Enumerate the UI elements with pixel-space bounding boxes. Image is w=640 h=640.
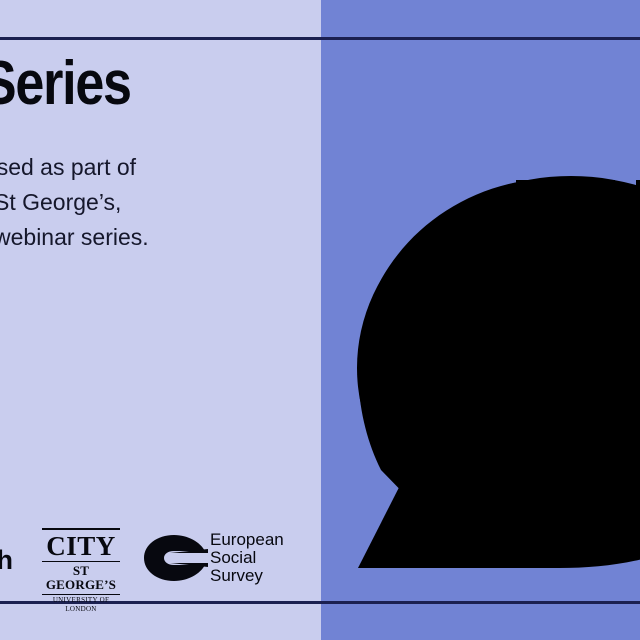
subcopy-line-1: anised as part of <box>0 150 326 185</box>
city-logo-word-city: CITY <box>42 532 120 560</box>
subcopy-block: anised as part of St George’s, webinar s… <box>0 150 326 255</box>
ess-logo-line-1: European <box>210 531 284 549</box>
city-logo-bottom-rule <box>42 594 120 595</box>
page-title: ar Series <box>0 52 275 116</box>
subcopy-line-2: St George’s, <box>0 185 326 220</box>
partner-logo-cropped: ch <box>0 545 13 576</box>
city-logo-mid-rule <box>42 561 120 562</box>
ess-logo-line-3: Survey <box>210 567 284 585</box>
city-logo-word-university: UNIVERSITY OF LONDON <box>42 596 120 614</box>
logo-row: ch CITY ST GEORGE’S UNIVERSITY OF LONDON… <box>0 525 321 591</box>
city-logo-top-rule <box>42 528 120 530</box>
ess-logo-wordmark: European Social Survey <box>210 531 284 585</box>
subcopy-line-3: webinar series. <box>0 220 326 255</box>
european-social-survey-logo: European Social Survey <box>144 531 304 587</box>
top-divider-rule <box>0 37 640 40</box>
city-st-georges-logo: CITY ST GEORGE’S UNIVERSITY OF LONDON <box>42 528 120 614</box>
speech-bubble-graphic <box>321 0 640 640</box>
city-logo-word-stgeorges: ST GEORGE’S <box>42 564 120 592</box>
banner-image: ar Series anised as part of St George’s,… <box>0 0 640 640</box>
ess-logo-line-2: Social <box>210 549 284 567</box>
ess-swoosh-icon <box>144 535 208 581</box>
